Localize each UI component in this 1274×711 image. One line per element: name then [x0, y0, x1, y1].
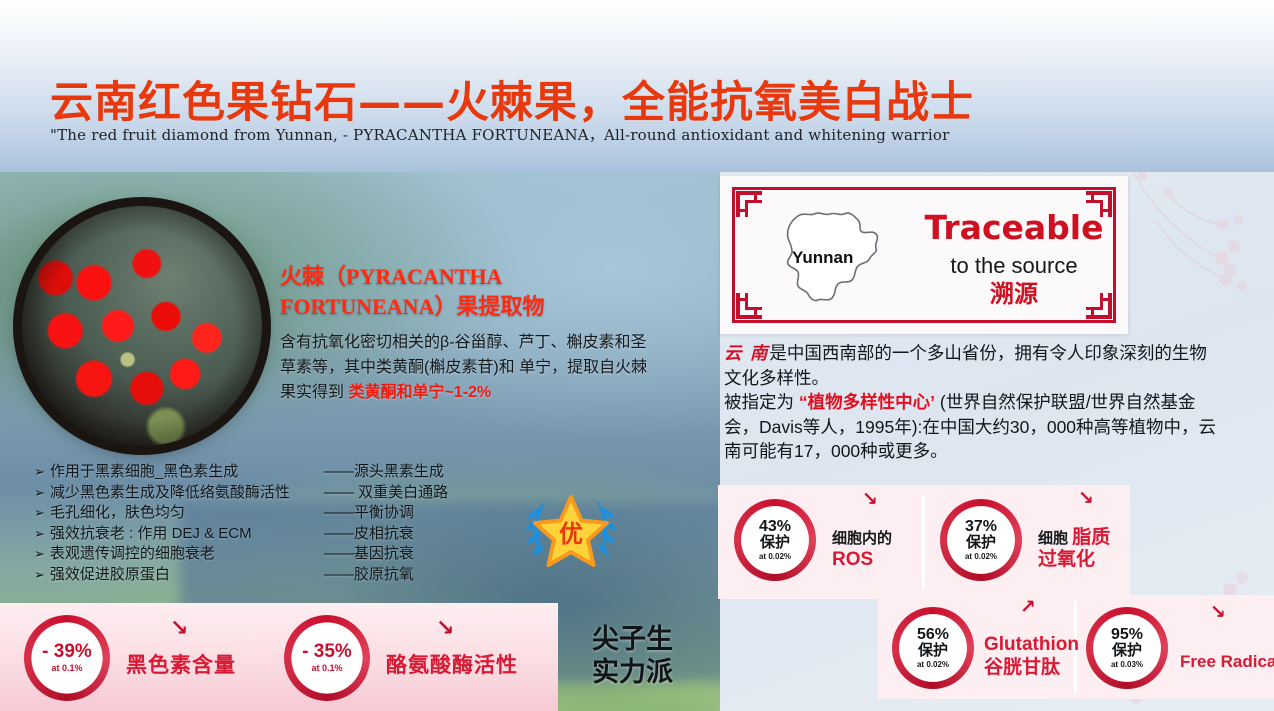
- stat-unit: 保护: [965, 535, 997, 551]
- stat-text: ↘ 细胞内的 ROS: [832, 510, 892, 571]
- list-item: ➢ 作用于黑素细胞_黑色素生成 ——源头黑素生成: [34, 462, 554, 482]
- arrowhead-bullet-icon: ➢: [34, 462, 45, 482]
- stat-text: ↘ 黑色素含量: [126, 641, 236, 676]
- stat-ring-labels: 43% 保护 at 0.02%: [759, 519, 791, 562]
- arrowhead-bullet-icon: ➢: [34, 524, 45, 544]
- stat-unit: 保护: [759, 535, 791, 551]
- down-arrow-icon: ↘: [436, 617, 454, 639]
- stat-label-black: 细胞内的: [832, 530, 892, 547]
- extract-heading-line2: FORTUNEANA）果提取物: [280, 294, 544, 319]
- stat-label-text: 黑色素含量: [126, 654, 236, 677]
- badge-star-text: 优: [559, 520, 583, 548]
- slogan-line-1: 尖子生: [592, 623, 712, 656]
- stat-label-text: 酪氨酸酶活性: [386, 654, 518, 677]
- down-arrow-icon: ↘: [1210, 603, 1226, 622]
- stat-value: 43%: [759, 519, 791, 536]
- slide-root: 云南红色果钻石——火棘果，全能抗氧美白战士 "The red fruit dia…: [0, 0, 1274, 711]
- list-item: ➢ 强效促进胶原蛋白 ——胶原抗氧: [34, 565, 554, 585]
- list-item-label: 强效促进胶原蛋白: [50, 565, 324, 585]
- stat-text: ↘ Free Radicals: [1180, 625, 1274, 672]
- stat-value: - 39%: [42, 642, 92, 662]
- list-item-label: 表观遗传调控的细胞衰老: [50, 544, 324, 564]
- list-item: ➢ 减少黑色素生成及降低络氨酸酶活性 —— 双重美白通路: [34, 483, 554, 503]
- up-arrow-icon: ↗: [1020, 598, 1036, 617]
- stat-ros: 43% 保护 at 0.02% ↘ 细胞内的 ROS: [734, 499, 892, 581]
- yunnan-quoted: “植物多样性中心’: [799, 392, 935, 412]
- stat-label: 酪氨酸酶活性: [386, 655, 518, 676]
- stat-ring-labels: 95% 保护 at 0.03%: [1111, 627, 1143, 670]
- slide-header: 云南红色果钻石——火棘果，全能抗氧美白战士 "The red fruit dia…: [0, 0, 1274, 172]
- stat-label-red-2: 谷胱甘肽: [984, 657, 1060, 678]
- stat-ring-labels: 56% 保护 at 0.02%: [917, 627, 949, 670]
- stat-value: 56%: [917, 627, 949, 644]
- stats-panel-bottom: 56% 保护 at 0.02% ↗ Glutathion 谷胱甘肽 95% 保护…: [878, 595, 1274, 699]
- stat-label-red: 脂质: [1072, 527, 1110, 548]
- arrowhead-bullet-icon: ➢: [34, 544, 45, 564]
- stats-panel-left: - 39% at 0.1% ↘ 黑色素含量 - 35% at 0.1% ↘: [0, 603, 558, 711]
- extract-heading-line1: 火棘（PYRACANTHA: [280, 264, 502, 289]
- stat-ring: - 39% at 0.1%: [24, 615, 110, 701]
- arrowhead-bullet-icon: ➢: [34, 565, 45, 585]
- stat-dose: at 0.02%: [917, 661, 949, 669]
- stat-free-radicals: 95% 保护 at 0.03% ↘ Free Radicals: [1086, 607, 1274, 689]
- stats-panel-top: 43% 保护 at 0.02% ↘ 细胞内的 ROS 37% 保护 at 0.0…: [718, 485, 1130, 599]
- stat-dose: at 0.02%: [759, 553, 791, 561]
- stat-text: ↘ 细胞 脂质 过氧化: [1038, 509, 1110, 571]
- stat-ring-labels: - 35% at 0.1%: [302, 642, 352, 673]
- stat-unit: 保护: [1111, 643, 1143, 659]
- ornament-corner-tl: [736, 191, 762, 217]
- stat-unit: 保护: [917, 643, 949, 659]
- list-item-label: 作用于黑素细胞_黑色素生成: [50, 462, 324, 482]
- traceable-title: Traceable: [916, 208, 1112, 248]
- laurel-star-icon: 优: [516, 490, 626, 570]
- page-subtitle: "The red fruit diamond from Yunnan, - PY…: [50, 124, 950, 145]
- arrowhead-bullet-icon: ➢: [34, 503, 45, 523]
- stat-lipid-peroxidation: 37% 保护 at 0.02% ↘ 细胞 脂质 过氧化: [940, 499, 1110, 581]
- stat-label: 黑色素含量: [126, 655, 236, 676]
- stat-melanin-content: - 39% at 0.1% ↘ 黑色素含量: [24, 615, 236, 701]
- down-arrow-icon: ↘: [862, 490, 878, 509]
- stat-label-black: 细胞: [1038, 530, 1068, 547]
- benefit-list: ➢ 作用于黑素细胞_黑色素生成 ——源头黑素生成 ➢ 减少黑色素生成及降低络氨酸…: [34, 462, 554, 585]
- arrowhead-bullet-icon: ➢: [34, 483, 45, 503]
- stat-label-red-2: 过氧化: [1038, 549, 1095, 570]
- stat-value: 95%: [1111, 627, 1143, 644]
- stat-ring: 95% 保护 at 0.03%: [1086, 607, 1168, 689]
- list-item-label: 减少黑色素生成及降低络氨酸酶活性: [50, 483, 324, 503]
- list-item-outcome: ——胶原抗氧: [324, 565, 414, 585]
- extract-description-highlight: 类黄酮和单宁~1-2%: [348, 384, 491, 401]
- down-arrow-icon: ↘: [1078, 489, 1094, 508]
- stat-tyrosinase-activity: - 35% at 0.1% ↘ 酪氨酸酶活性: [284, 615, 518, 701]
- slogan: 尖子生 实力派: [592, 623, 712, 689]
- stat-ring: 43% 保护 at 0.02%: [734, 499, 816, 581]
- stat-label-red: Free Radicals: [1180, 652, 1274, 671]
- stat-dose: at 0.1%: [42, 664, 92, 673]
- pyracantha-berry-photo: [22, 206, 262, 446]
- stat-label: Glutathion 谷胱甘肽: [984, 633, 1079, 679]
- list-item: ➢ 毛孔细化，肤色均匀 ——平衡协调: [34, 503, 554, 523]
- excellence-badge: 优: [516, 490, 626, 570]
- stat-text: ↘ 酪氨酸酶活性: [386, 641, 518, 676]
- berry-photo-vignette: [22, 206, 262, 446]
- stat-value: - 35%: [302, 642, 352, 662]
- panel-divider: [922, 495, 925, 589]
- ornament-corner-bl: [736, 293, 762, 319]
- traceable-subtitle: to the source: [916, 252, 1112, 280]
- yunnan-part2: 被指定为: [724, 392, 799, 412]
- list-item-label: 强效抗衰老 : 作用 DEJ & ECM: [50, 524, 324, 544]
- stat-text: ↗ Glutathion 谷胱甘肽: [984, 617, 1079, 679]
- yunnan-map-label: Yunnan: [792, 248, 853, 268]
- stat-dose: at 0.03%: [1111, 661, 1143, 669]
- page-title: 云南红色果钻石——火棘果，全能抗氧美白战士: [50, 68, 974, 130]
- stat-ring-labels: 37% 保护 at 0.02%: [965, 519, 997, 562]
- extract-description: 含有抗氧化密切相关的β-谷甾醇、芦丁、槲皮素和圣草素等，其中类黄酮(槲皮素苷)和…: [280, 330, 662, 405]
- down-arrow-icon: ↘: [170, 617, 188, 639]
- stat-ring-labels: - 39% at 0.1%: [42, 642, 92, 673]
- list-item-outcome: ——平衡协调: [324, 503, 414, 523]
- stat-label: 细胞 脂质 过氧化: [1038, 527, 1110, 571]
- extract-heading: 火棘（PYRACANTHA FORTUNEANA）果提取物: [280, 262, 680, 322]
- list-item-outcome: —— 双重美白通路: [324, 483, 448, 503]
- stat-ring: 56% 保护 at 0.02%: [892, 607, 974, 689]
- yunnan-description: 云 南是中国西南部的一个多山省份，拥有令人印象深刻的生物文化多样性。 被指定为 …: [724, 341, 1224, 464]
- stat-ring: 37% 保护 at 0.02%: [940, 499, 1022, 581]
- stat-label-red: Glutathion: [984, 634, 1079, 655]
- stat-value: 37%: [965, 519, 997, 536]
- stat-ring: - 35% at 0.1%: [284, 615, 370, 701]
- yunnan-part1: 是中国西南部的一个多山省份，拥有令人印象深刻的生物文化多样性。: [724, 343, 1207, 388]
- traceable-card: Yunnan Traceable to the source 溯源: [720, 176, 1128, 334]
- list-item: ➢ 强效抗衰老 : 作用 DEJ & ECM ——皮相抗衰: [34, 524, 554, 544]
- stat-label: Free Radicals: [1180, 651, 1274, 672]
- slogan-line-2: 实力派: [592, 656, 712, 689]
- yunnan-lead: 云 南: [724, 343, 769, 363]
- list-item-outcome: ——基因抗衰: [324, 544, 414, 564]
- stat-dose: at 0.02%: [965, 553, 997, 561]
- stat-glutathione: 56% 保护 at 0.02% ↗ Glutathion 谷胱甘肽: [892, 607, 1079, 689]
- list-item: ➢ 表观遗传调控的细胞衰老 ——基因抗衰: [34, 544, 554, 564]
- stat-label-red: ROS: [832, 549, 873, 570]
- list-item-outcome: ——源头黑素生成: [324, 462, 444, 482]
- traceable-chinese: 溯源: [916, 280, 1112, 310]
- stat-dose: at 0.1%: [302, 664, 352, 673]
- stat-label: 细胞内的 ROS: [832, 528, 892, 571]
- list-item-outcome: ——皮相抗衰: [324, 524, 414, 544]
- list-item-label: 毛孔细化，肤色均匀: [50, 503, 324, 523]
